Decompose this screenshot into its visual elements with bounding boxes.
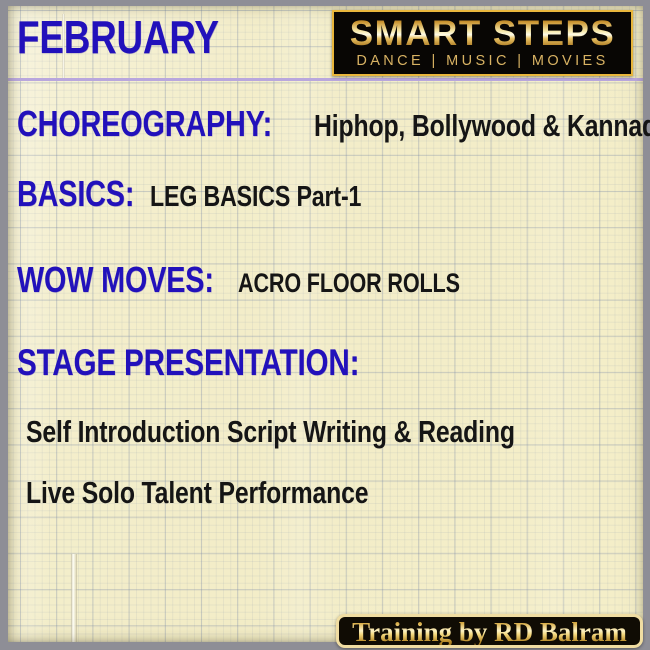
list-item: Live Solo Talent Performance [26,477,454,508]
trainer-credit-badge: Training by RD Balram [336,614,643,648]
list-item: Self Introduction Script Writing & Readi… [26,416,637,447]
page-title: FEBRUARY [17,14,269,60]
poster-content: FEBRUARY SMART STEPS DANCE | MUSIC | MOV… [0,0,650,650]
brand-tagline: DANCE | MUSIC | MOVIES [334,53,631,69]
poster-canvas: FEBRUARY SMART STEPS DANCE | MUSIC | MOV… [0,0,650,650]
section-stage-presentation-label: STAGE PRESENTATION: [17,345,359,381]
section-basics-label: BASICS: [17,176,134,212]
section-wow-moves-label: WOW MOVES: [17,262,214,298]
section-basics-value: LEG BASICS Part-1 [150,182,361,212]
section-basics: BASICS:LEG BASICS Part-1 [17,176,414,212]
section-choreography: CHOREOGRAPHY:Hiphop, Bollywood & Kannada [17,106,650,142]
section-wow-moves-value: ACRO FLOOR ROLLS [238,268,460,298]
stage-item-label: Self Introduction Script Writing & Readi… [26,416,515,447]
trainer-credit-text: Training by RD Balram [339,617,640,647]
brand-logo: SMART STEPS DANCE | MUSIC | MOVIES [332,10,633,76]
stage-item-label: Live Solo Talent Performance [26,477,368,508]
brand-name: SMART STEPS [334,15,631,53]
month-label: FEBRUARY [17,14,219,60]
section-choreography-label: CHOREOGRAPHY: [17,106,272,142]
section-choreography-value: Hiphop, Bollywood & Kannada [314,111,650,141]
section-wow-moves: WOW MOVES:ACRO FLOOR ROLLS [17,262,515,298]
section-stage-presentation: STAGE PRESENTATION: [17,345,445,381]
